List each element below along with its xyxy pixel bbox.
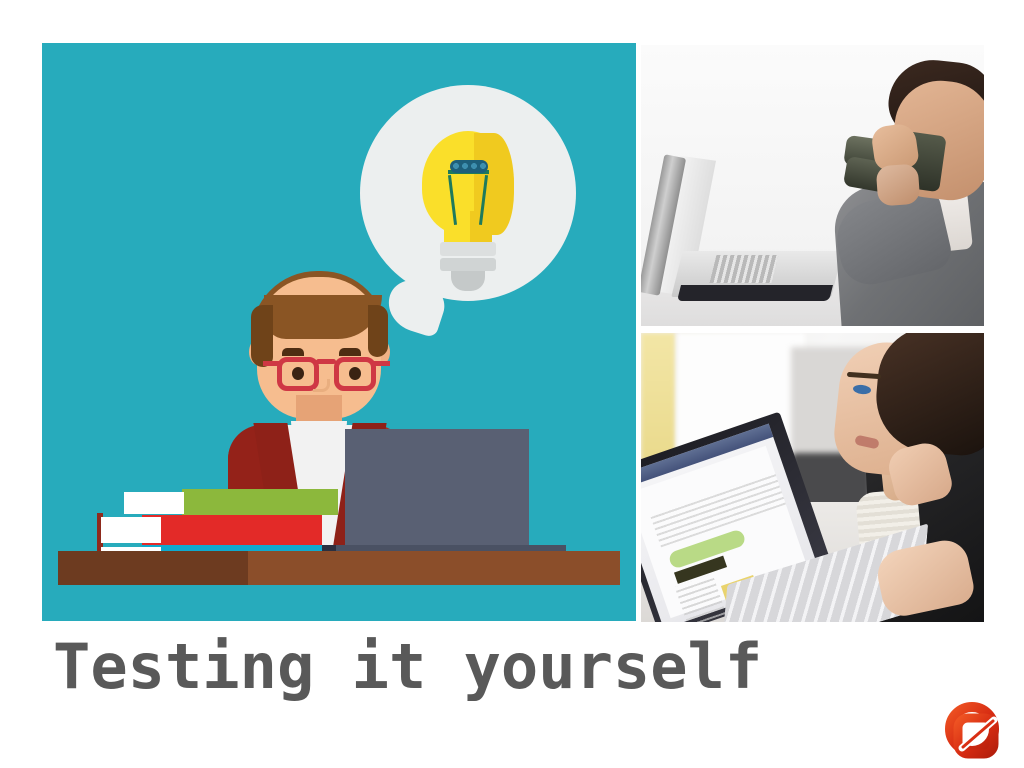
character-hair-side-right: [368, 305, 388, 357]
lightbulb-base-lower: [440, 258, 496, 271]
book-red-pages: [101, 517, 161, 543]
photo-laptop-underside: [677, 285, 833, 301]
photo-man-hand-lower: [876, 164, 921, 207]
character-eyebrow-right: [339, 348, 361, 356]
glasses-arm-right: [374, 361, 390, 366]
brand-logo: [944, 698, 1006, 760]
illustration-laptop-lid: [345, 429, 529, 557]
photo-man-with-binoculars-at-laptop: [641, 45, 984, 326]
character-eyebrow-left: [282, 348, 304, 356]
book-red: [142, 515, 322, 545]
character-hair-side-left: [251, 305, 273, 367]
photo-woman-reviewing-laptop-screen: [641, 333, 984, 622]
illustration-desk-shadow: [58, 551, 248, 585]
lightbulb-coil-dots: [452, 162, 486, 171]
glasses-arm-left: [263, 361, 279, 366]
illustration-panel: [42, 43, 636, 621]
page-title: Testing it yourself: [53, 633, 933, 701]
slide-canvas: Testing it yourself: [0, 0, 1024, 768]
photo-laptop-keyboard: [710, 255, 779, 283]
book-green: [182, 489, 338, 515]
glasses-bridge: [316, 359, 336, 364]
lightbulb-base-upper: [440, 242, 496, 256]
glasses-lens-right: [334, 357, 376, 391]
book-green-pages: [124, 492, 184, 514]
